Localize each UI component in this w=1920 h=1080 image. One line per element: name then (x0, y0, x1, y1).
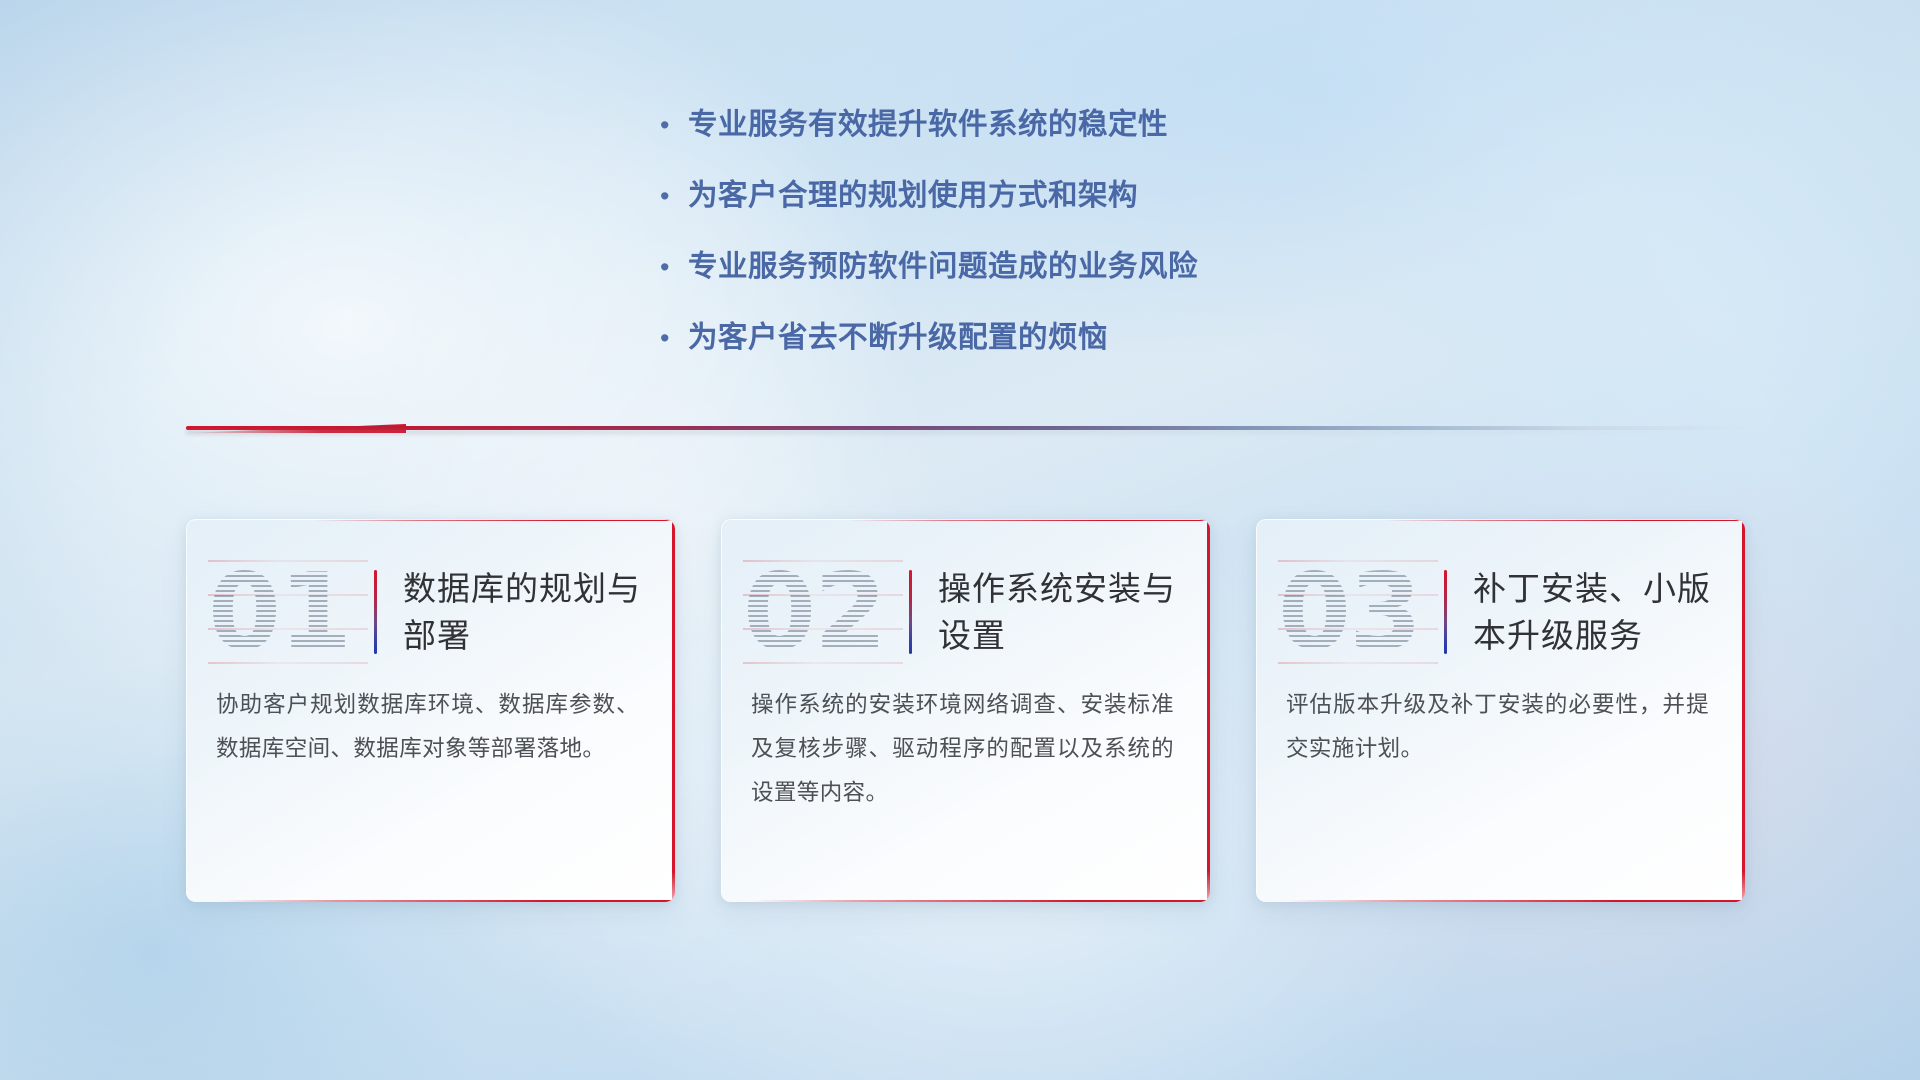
card-ghost-number: 02 (743, 560, 903, 664)
bullet-item-text: 为客户合理的规划使用方式和架构 (688, 175, 1138, 217)
card-accent-bottom-edge (215, 900, 675, 902)
bullet-dot-icon: • (660, 175, 688, 217)
card-header: 03 补丁安装、小版本升级服务 (1256, 519, 1745, 667)
card-header: 02 操作系统安装与设置 (721, 519, 1210, 667)
card-title: 操作系统安装与设置 (938, 565, 1193, 659)
section-divider (186, 424, 1746, 433)
card-body-text: 协助客户规划数据库环境、数据库参数、数据库空间、数据库对象等部署落地。 (186, 667, 675, 771)
feature-card-01[interactable]: 01 数据库的规划与部署 协助客户规划数据库环境、数据库参数、数据库空间、数据库… (186, 519, 675, 902)
bullet-item-2: • 为客户合理的规划使用方式和架构 (660, 175, 1420, 217)
card-title-rule (1444, 570, 1447, 654)
card-header: 01 数据库的规划与部署 (186, 519, 675, 667)
bullet-list: • 专业服务有效提升软件系统的稳定性 • 为客户合理的规划使用方式和架构 • 专… (660, 104, 1420, 388)
card-accent-bottom-edge (1285, 900, 1745, 902)
feature-card-03[interactable]: 03 补丁安装、小版本升级服务 评估版本升级及补丁安装的必要性，并提交实施计划。 (1256, 519, 1745, 902)
bullet-dot-icon: • (660, 246, 688, 288)
card-ghost-number: 01 (208, 560, 368, 664)
bullet-item-4: • 为客户省去不断升级配置的烦恼 (660, 317, 1420, 359)
card-body-text: 评估版本升级及补丁安装的必要性，并提交实施计划。 (1256, 667, 1745, 771)
bullet-item-1: • 专业服务有效提升软件系统的稳定性 (660, 104, 1420, 146)
bullet-item-text: 专业服务预防软件问题造成的业务风险 (688, 246, 1198, 288)
card-accent-bottom-edge (750, 900, 1210, 902)
bullet-item-text: 为客户省去不断升级配置的烦恼 (688, 317, 1108, 359)
feature-card-row: 01 数据库的规划与部署 协助客户规划数据库环境、数据库参数、数据库空间、数据库… (186, 519, 1746, 902)
divider-shadow (186, 430, 1746, 434)
card-title: 数据库的规划与部署 (403, 565, 658, 659)
bullet-dot-icon: • (660, 317, 688, 359)
card-title: 补丁安装、小版本升级服务 (1473, 565, 1728, 659)
card-title-rule (909, 570, 912, 654)
feature-card-02[interactable]: 02 操作系统安装与设置 操作系统的安装环境网络调查、安装标准及复核步骤、驱动程… (721, 519, 1210, 902)
slide-canvas: • 专业服务有效提升软件系统的稳定性 • 为客户合理的规划使用方式和架构 • 专… (0, 0, 1920, 1080)
card-title-rule (374, 570, 377, 654)
bullet-item-3: • 专业服务预防软件问题造成的业务风险 (660, 246, 1420, 288)
card-body-text: 操作系统的安装环境网络调查、安装标准及复核步骤、驱动程序的配置以及系统的设置等内… (721, 667, 1210, 815)
card-ghost-number: 03 (1278, 560, 1438, 664)
bullet-item-text: 专业服务有效提升软件系统的稳定性 (688, 104, 1168, 146)
bullet-dot-icon: • (660, 104, 688, 146)
